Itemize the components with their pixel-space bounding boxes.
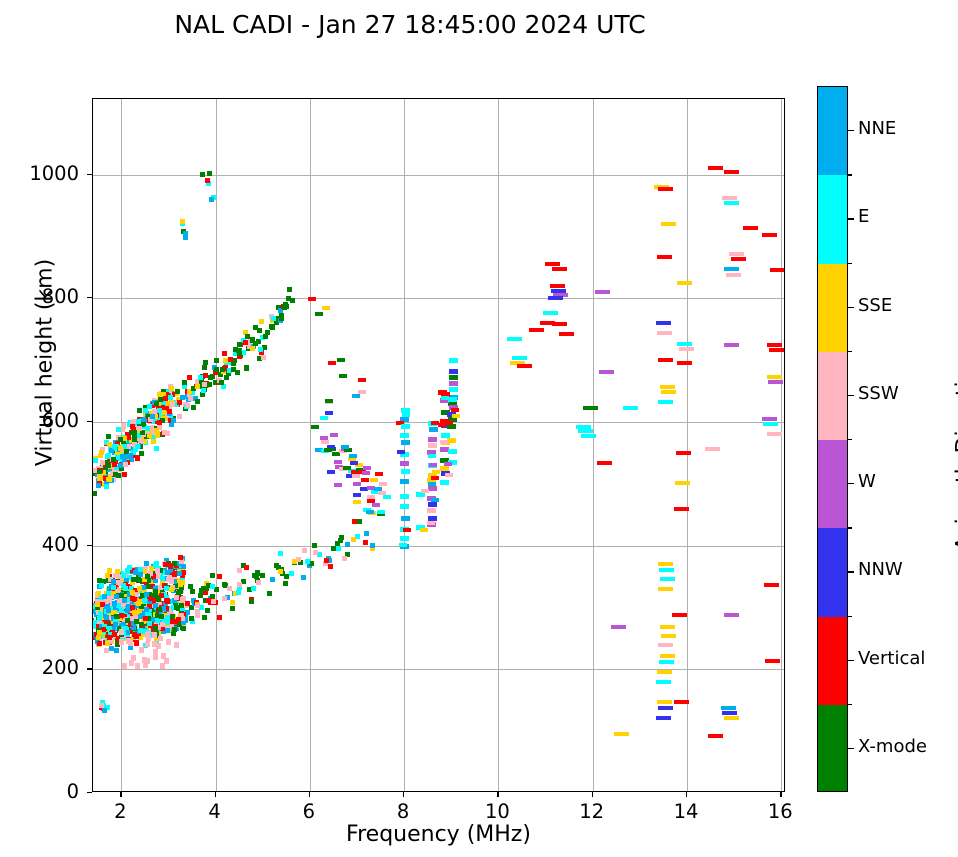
data-mark xyxy=(202,586,207,591)
colorbar-segment-w[interactable] xyxy=(818,440,847,529)
data-mark xyxy=(660,577,675,581)
data-mark xyxy=(611,625,626,629)
data-mark xyxy=(154,446,159,451)
data-mark xyxy=(362,471,370,475)
data-mark xyxy=(95,602,100,607)
data-mark xyxy=(137,408,142,413)
data-mark xyxy=(341,445,349,449)
data-mark xyxy=(658,187,673,191)
colorbar-tick xyxy=(848,483,854,484)
colorbar-boundary-tick xyxy=(848,263,852,264)
data-mark xyxy=(235,370,240,375)
data-mark xyxy=(440,480,449,485)
data-mark xyxy=(201,388,206,393)
data-mark xyxy=(104,484,109,489)
gridline-vertical xyxy=(216,99,217,791)
colorbar-segment-ssw[interactable] xyxy=(818,352,847,441)
data-mark xyxy=(708,734,723,738)
data-mark xyxy=(106,608,111,613)
data-mark xyxy=(181,570,186,575)
data-mark xyxy=(112,444,117,449)
data-mark xyxy=(157,408,162,413)
data-mark xyxy=(138,567,143,572)
data-mark xyxy=(421,489,429,493)
data-mark xyxy=(128,640,133,646)
colorbar-segment-vertical[interactable] xyxy=(818,617,847,706)
data-mark xyxy=(337,358,345,362)
colorbar-segment-e[interactable] xyxy=(818,175,847,264)
data-mark xyxy=(113,472,118,477)
data-mark xyxy=(322,306,330,310)
data-mark xyxy=(677,361,692,365)
ionogram-figure: NAL CADI - Jan 27 18:45:00 2024 UTC 2468… xyxy=(0,0,958,857)
data-mark xyxy=(202,615,207,620)
data-mark xyxy=(290,298,295,303)
data-mark xyxy=(241,579,246,584)
data-mark xyxy=(100,460,105,465)
data-mark xyxy=(161,653,166,659)
data-mark xyxy=(656,716,671,720)
data-mark xyxy=(208,375,213,380)
y-axis-label: Virtual height (km) xyxy=(33,213,58,513)
colorbar-tick xyxy=(848,748,854,749)
data-mark xyxy=(171,418,176,423)
x-tick xyxy=(215,792,216,797)
x-tick xyxy=(120,792,121,797)
data-mark xyxy=(237,342,242,347)
colorbar-segment-sse[interactable] xyxy=(818,264,847,353)
y-tick-label: 400 xyxy=(0,533,79,556)
data-mark xyxy=(278,551,283,556)
data-mark xyxy=(729,252,744,256)
data-mark xyxy=(152,632,157,638)
data-mark xyxy=(219,380,224,385)
y-tick xyxy=(87,545,92,546)
data-mark xyxy=(134,641,139,646)
data-mark xyxy=(339,535,344,540)
y-tick xyxy=(87,792,92,793)
colorbar-tick xyxy=(848,395,854,396)
data-mark xyxy=(243,340,248,345)
data-mark xyxy=(183,235,188,240)
data-mark xyxy=(106,463,111,468)
data-mark xyxy=(320,416,328,420)
data-mark xyxy=(315,312,323,316)
x-tick-label: 6 xyxy=(279,800,339,823)
data-mark xyxy=(401,424,410,429)
data-mark xyxy=(289,571,294,576)
data-mark xyxy=(160,663,165,669)
x-tick-label: 16 xyxy=(750,800,810,823)
data-mark xyxy=(383,495,391,499)
data-mark xyxy=(170,614,175,619)
colorbar-label-sse: SSE xyxy=(858,295,892,316)
data-mark xyxy=(767,432,782,436)
data-mark xyxy=(98,475,103,480)
data-mark xyxy=(763,422,778,426)
colorbar-label-vertical: Vertical xyxy=(858,648,925,669)
x-tick xyxy=(780,792,781,797)
data-mark xyxy=(104,615,109,620)
data-mark xyxy=(132,610,137,615)
data-mark xyxy=(217,615,222,620)
gridline-vertical xyxy=(781,99,782,791)
data-mark xyxy=(581,434,596,438)
data-mark xyxy=(427,508,436,513)
data-mark xyxy=(150,414,155,419)
data-mark xyxy=(195,384,200,389)
data-mark xyxy=(769,348,784,352)
data-mark xyxy=(237,582,242,587)
data-mark xyxy=(552,322,567,326)
data-mark xyxy=(174,642,179,648)
data-mark xyxy=(721,706,736,710)
data-mark xyxy=(724,716,739,720)
data-mark xyxy=(190,589,195,594)
data-mark xyxy=(104,648,109,653)
data-mark xyxy=(358,378,366,382)
data-mark xyxy=(658,562,673,566)
data-mark xyxy=(153,649,158,655)
data-mark xyxy=(130,590,135,595)
data-mark xyxy=(374,487,382,491)
data-mark xyxy=(428,516,437,521)
data-mark xyxy=(207,382,212,387)
data-mark xyxy=(370,478,378,482)
data-mark xyxy=(217,574,222,579)
colorbar-label-nnw: NNW xyxy=(858,559,903,580)
data-mark xyxy=(325,399,333,403)
data-mark xyxy=(211,599,216,604)
data-mark xyxy=(107,635,112,640)
data-mark xyxy=(724,170,739,174)
data-mark xyxy=(157,607,162,612)
data-mark xyxy=(357,519,362,524)
data-mark xyxy=(256,580,261,585)
data-mark xyxy=(726,273,741,277)
data-mark xyxy=(658,643,673,647)
data-mark xyxy=(261,355,266,360)
data-mark xyxy=(107,598,112,603)
data-mark xyxy=(164,586,169,591)
data-mark xyxy=(142,657,147,663)
colorbar-boundary-tick xyxy=(848,174,852,175)
data-mark xyxy=(156,597,161,602)
data-mark xyxy=(444,462,452,466)
data-mark xyxy=(764,583,779,587)
data-mark xyxy=(657,255,672,259)
data-mark xyxy=(339,374,347,378)
data-mark xyxy=(679,347,694,351)
data-mark xyxy=(661,390,676,394)
data-mark xyxy=(400,494,409,499)
data-mark xyxy=(116,574,121,579)
data-mark xyxy=(135,444,140,449)
data-mark xyxy=(676,451,691,455)
data-mark xyxy=(375,472,383,476)
data-mark xyxy=(659,660,674,664)
colorbar-label: Azimuth Direction xyxy=(953,293,958,613)
data-mark xyxy=(178,555,183,560)
data-mark xyxy=(361,478,369,482)
data-mark xyxy=(145,641,150,647)
data-mark xyxy=(403,528,411,532)
data-mark xyxy=(121,423,126,428)
data-mark xyxy=(512,356,527,360)
data-mark xyxy=(165,431,170,436)
data-mark xyxy=(114,648,119,653)
data-mark xyxy=(328,361,336,365)
gridline-horizontal xyxy=(93,298,784,299)
data-mark xyxy=(202,382,207,387)
data-mark xyxy=(401,440,410,445)
colorbar-label-w: W xyxy=(858,471,876,492)
data-mark xyxy=(677,342,692,346)
data-mark xyxy=(677,281,692,285)
data-mark xyxy=(200,172,205,177)
data-mark xyxy=(672,613,687,617)
data-mark xyxy=(165,570,170,575)
data-mark xyxy=(331,546,336,551)
data-mark xyxy=(352,519,357,524)
data-mark xyxy=(118,437,123,442)
data-mark xyxy=(660,654,675,658)
data-mark xyxy=(143,616,148,621)
data-mark xyxy=(324,558,329,563)
data-mark xyxy=(258,347,263,352)
data-mark xyxy=(105,573,110,578)
data-mark xyxy=(321,440,329,444)
data-mark xyxy=(449,375,458,380)
data-mark xyxy=(172,627,177,632)
data-mark xyxy=(221,384,226,389)
data-mark xyxy=(529,328,544,332)
data-mark xyxy=(236,590,241,595)
colorbar[interactable] xyxy=(817,86,848,792)
data-mark xyxy=(154,428,159,433)
data-mark xyxy=(449,387,458,392)
data-mark xyxy=(278,569,283,574)
data-mark xyxy=(302,548,307,553)
data-mark xyxy=(157,420,162,425)
data-mark xyxy=(448,449,457,454)
data-mark xyxy=(397,450,405,454)
y-tick-label: 1000 xyxy=(0,162,79,185)
data-mark xyxy=(431,498,439,502)
data-mark xyxy=(185,601,190,606)
data-mark xyxy=(249,599,254,604)
data-mark xyxy=(765,659,780,663)
x-tick-label: 10 xyxy=(467,800,527,823)
data-mark xyxy=(255,571,260,576)
data-mark xyxy=(308,297,316,301)
data-mark xyxy=(97,578,102,583)
data-mark xyxy=(118,446,123,451)
data-mark xyxy=(119,639,124,645)
data-mark xyxy=(353,500,361,504)
data-mark xyxy=(428,437,437,442)
x-axis-label: Frequency (MHz) xyxy=(92,822,785,847)
data-mark xyxy=(559,332,574,336)
data-mark xyxy=(153,654,158,660)
data-mark xyxy=(287,287,292,292)
colorbar-segment-x-mode[interactable] xyxy=(818,705,847,792)
x-tick-label: 4 xyxy=(185,800,245,823)
data-mark xyxy=(279,316,284,321)
data-mark xyxy=(550,284,565,288)
data-mark xyxy=(109,646,114,651)
data-mark xyxy=(170,402,175,407)
data-mark xyxy=(121,583,126,588)
data-mark xyxy=(334,460,342,464)
data-mark xyxy=(743,226,758,230)
data-mark xyxy=(658,358,673,362)
data-mark xyxy=(661,222,676,226)
data-mark xyxy=(253,325,258,330)
data-mark xyxy=(187,375,192,380)
data-mark xyxy=(119,613,124,618)
data-mark xyxy=(342,556,347,561)
data-mark xyxy=(658,400,673,404)
data-mark xyxy=(180,597,185,602)
colorbar-label-e: E xyxy=(858,206,869,227)
data-mark xyxy=(154,561,159,566)
data-mark xyxy=(658,706,673,710)
data-mark xyxy=(595,290,610,294)
data-mark xyxy=(724,343,739,347)
data-mark xyxy=(177,400,182,405)
data-mark xyxy=(195,603,200,608)
data-mark xyxy=(237,568,242,573)
data-mark xyxy=(400,536,409,541)
data-mark xyxy=(657,670,672,674)
data-mark xyxy=(155,568,160,573)
y-tick-label: 200 xyxy=(0,656,79,679)
data-mark xyxy=(399,543,407,547)
data-mark xyxy=(169,386,174,391)
data-mark xyxy=(144,592,149,597)
data-mark xyxy=(214,358,219,363)
data-mark xyxy=(334,483,342,487)
data-mark xyxy=(448,397,457,402)
data-mark xyxy=(210,584,215,589)
data-mark xyxy=(452,414,460,418)
data-mark xyxy=(259,319,264,324)
data-mark xyxy=(722,711,737,715)
data-mark xyxy=(336,546,341,551)
data-mark xyxy=(119,629,124,635)
data-mark xyxy=(111,585,116,590)
data-mark xyxy=(123,462,128,467)
gridline-horizontal xyxy=(93,669,784,670)
data-mark xyxy=(209,197,214,202)
data-mark xyxy=(320,436,328,440)
data-mark xyxy=(657,331,672,335)
data-mark xyxy=(724,267,739,271)
data-mark xyxy=(130,605,135,610)
data-mark xyxy=(220,367,225,372)
figure-title: NAL CADI - Jan 27 18:45:00 2024 UTC xyxy=(0,10,820,39)
data-mark xyxy=(343,466,351,470)
colorbar-tick xyxy=(848,218,854,219)
data-mark xyxy=(99,583,104,588)
data-mark xyxy=(429,463,437,467)
data-mark xyxy=(552,267,567,271)
data-mark xyxy=(244,565,249,570)
data-mark xyxy=(432,470,440,474)
colorbar-segment-nne[interactable] xyxy=(818,87,847,176)
data-mark xyxy=(113,622,118,627)
colorbar-label-x-mode: X-mode xyxy=(858,736,927,757)
data-mark xyxy=(599,370,614,374)
data-mark xyxy=(224,375,229,380)
data-mark xyxy=(705,447,720,451)
data-mark xyxy=(136,601,141,606)
data-mark xyxy=(548,296,563,300)
data-mark xyxy=(135,663,140,669)
data-mark xyxy=(427,521,435,525)
data-mark xyxy=(230,606,235,611)
data-mark xyxy=(174,605,179,610)
data-mark xyxy=(222,351,227,356)
data-mark xyxy=(428,486,437,491)
colorbar-tick xyxy=(848,571,854,572)
data-mark xyxy=(122,598,127,603)
data-mark xyxy=(174,595,179,600)
data-mark xyxy=(770,268,785,272)
plot-area xyxy=(92,98,785,792)
data-mark xyxy=(543,311,558,315)
data-mark xyxy=(656,321,671,325)
data-mark xyxy=(401,469,410,474)
data-mark xyxy=(416,492,425,497)
data-mark xyxy=(107,477,112,482)
data-mark xyxy=(122,472,127,477)
data-mark xyxy=(137,586,142,591)
data-mark xyxy=(428,443,437,448)
data-mark xyxy=(159,614,164,619)
data-mark xyxy=(366,510,374,514)
data-mark xyxy=(214,367,219,372)
data-mark xyxy=(132,430,137,435)
data-mark xyxy=(165,620,170,625)
data-mark xyxy=(353,493,361,497)
colorbar-segment-nnw[interactable] xyxy=(818,528,847,617)
gridline-horizontal xyxy=(93,546,784,547)
gridline-vertical xyxy=(310,99,311,791)
data-mark xyxy=(325,411,333,415)
y-tick xyxy=(87,174,92,175)
data-mark xyxy=(127,565,132,570)
data-mark xyxy=(724,201,739,205)
data-mark xyxy=(762,417,777,421)
data-mark xyxy=(228,357,233,362)
data-mark xyxy=(267,591,272,596)
y-tick-label: 0 xyxy=(0,780,79,803)
data-mark xyxy=(175,389,180,394)
data-mark xyxy=(253,341,258,346)
data-mark xyxy=(431,421,439,425)
gridline-vertical xyxy=(498,99,499,791)
data-mark xyxy=(145,426,150,431)
data-mark xyxy=(169,579,174,584)
data-mark xyxy=(708,166,723,170)
colorbar-tick xyxy=(848,660,854,661)
data-mark xyxy=(153,626,158,631)
data-mark xyxy=(112,601,117,606)
data-mark xyxy=(119,593,124,598)
colorbar-boundary-tick xyxy=(848,616,852,617)
